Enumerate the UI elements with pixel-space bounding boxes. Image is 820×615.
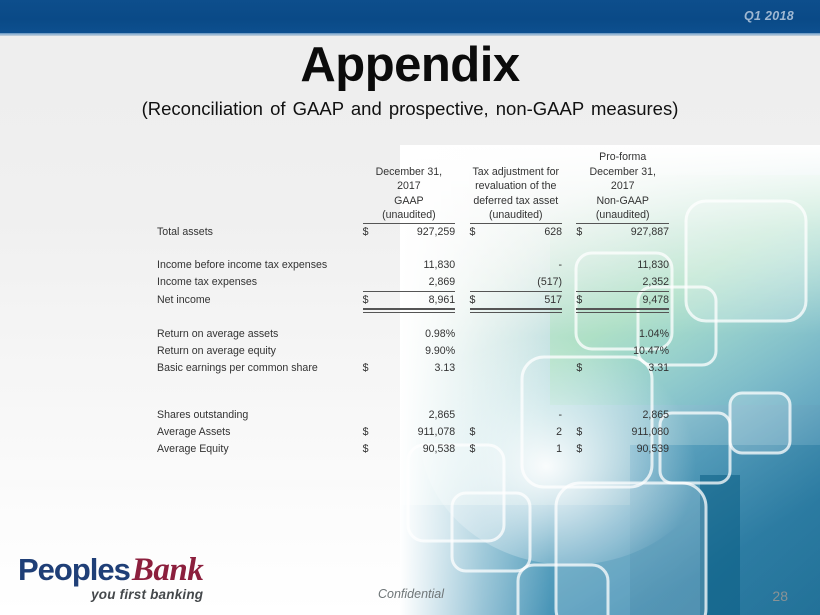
header-line: revaluation of the: [475, 180, 556, 192]
table-spacer-row: [157, 241, 669, 257]
table-body: Total assets$927,259$628$927,887Income b…: [157, 223, 669, 458]
table-row: Average Equity$90,538$1$90,539: [157, 441, 669, 458]
cell-currency-symbol: $: [576, 424, 592, 441]
cell-currency-symbol: $: [363, 291, 379, 309]
cell-value: -: [486, 407, 562, 424]
table-header-row: December 31, 2017 GAAP (unaudited) Tax a…: [157, 150, 669, 223]
cell-gap: [455, 326, 469, 343]
header-line: (unaudited): [382, 209, 436, 221]
cell-value: 9.90%: [379, 343, 455, 360]
cell-currency-symbol: [363, 407, 379, 424]
row-label: Total assets: [157, 223, 363, 241]
reconciliation-table: December 31, 2017 GAAP (unaudited) Tax a…: [157, 150, 669, 458]
cell-value: 2,865: [379, 407, 455, 424]
cell-currency-symbol: [363, 274, 379, 292]
cell-gap: [562, 343, 576, 360]
cell-currency-symbol: $: [470, 441, 486, 458]
banner-divider-rule: [0, 33, 820, 36]
header-gap-1: [455, 150, 469, 223]
header-line: Pro-forma: [599, 151, 646, 163]
table-header: December 31, 2017 GAAP (unaudited) Tax a…: [157, 150, 669, 223]
table-row: Income before income tax expenses11,830-…: [157, 257, 669, 274]
cell-value: 628: [486, 223, 562, 241]
cell-value: -: [486, 257, 562, 274]
logo-wordmark: PeoplesBank: [18, 554, 203, 587]
confidential-label: Confidential: [378, 587, 444, 601]
table-row: Average Assets$911,078$2$911,080: [157, 424, 669, 441]
table-row: Total assets$927,259$628$927,887: [157, 223, 669, 241]
cell-gap: [455, 424, 469, 441]
cell-value: 9,478: [593, 291, 669, 309]
table-row: Return on average assets0.98%1.04%: [157, 326, 669, 343]
cell-currency-symbol: $: [363, 223, 379, 241]
logo-tagline: you first banking: [18, 588, 203, 602]
cell-gap: [455, 257, 469, 274]
column-header-tax-adjustment: Tax adjustment for revaluation of the de…: [470, 150, 563, 223]
header-line: Non-GAAP: [597, 195, 649, 207]
table-row: Return on average equity9.90%10.47%: [157, 343, 669, 360]
cell-currency-symbol: $: [576, 291, 592, 309]
cell-gap: [455, 223, 469, 241]
cell-value: [486, 343, 562, 360]
cell-currency-symbol: $: [576, 223, 592, 241]
cell-value: 90,538: [379, 441, 455, 458]
cell-currency-symbol: [363, 326, 379, 343]
cell-currency-symbol: [470, 274, 486, 292]
header-line: December 31,: [589, 166, 656, 178]
banner-period-label: Q1 2018: [744, 9, 794, 23]
cell-currency-symbol: [363, 343, 379, 360]
cell-gap: [562, 424, 576, 441]
logo-secondary-text: Bank: [132, 552, 203, 588]
cell-value: 90,539: [593, 441, 669, 458]
header-line: GAAP: [394, 195, 423, 207]
cell-value: 911,078: [379, 424, 455, 441]
cell-gap: [562, 274, 576, 292]
cell-value: (517): [486, 274, 562, 292]
cell-gap: [562, 223, 576, 241]
cell-currency-symbol: [470, 257, 486, 274]
cell-currency-symbol: $: [470, 223, 486, 241]
cell-gap: [562, 441, 576, 458]
row-label: Average Equity: [157, 441, 363, 458]
page-title: Appendix: [0, 37, 820, 93]
table-row: Income tax expenses2,869(517)2,352: [157, 274, 669, 292]
cell-value: 2,352: [593, 274, 669, 292]
header-label-spacer: [157, 150, 363, 223]
cell-value: 927,887: [593, 223, 669, 241]
cell-gap: [562, 326, 576, 343]
logo-primary-text: Peoples: [18, 552, 130, 587]
cell-value: 10.47%: [593, 343, 669, 360]
cell-value: 517: [486, 291, 562, 309]
row-label: Average Assets: [157, 424, 363, 441]
cell-value: 2,865: [593, 407, 669, 424]
cell-value: 8,961: [379, 291, 455, 309]
cell-currency-symbol: [576, 257, 592, 274]
header-gap-2: [562, 150, 576, 223]
row-label: Income before income tax expenses: [157, 257, 363, 274]
cell-gap: [455, 343, 469, 360]
cell-currency-symbol: [576, 343, 592, 360]
cell-value: 11,830: [379, 257, 455, 274]
column-header-non-gaap: Pro-forma December 31, 2017 Non-GAAP (un…: [576, 150, 669, 223]
peoples-bank-logo: PeoplesBank you first banking: [18, 554, 203, 602]
cell-value: 1: [486, 441, 562, 458]
cell-gap: [562, 360, 576, 377]
header-line: deferred tax asset: [473, 195, 558, 207]
header-line: 2017: [611, 180, 635, 192]
cell-value: 911,080: [593, 424, 669, 441]
cell-value: 2,869: [379, 274, 455, 292]
cell-currency-symbol: $: [363, 424, 379, 441]
column-header-gaap: December 31, 2017 GAAP (unaudited): [363, 150, 456, 223]
cell-currency-symbol: [576, 326, 592, 343]
cell-currency-symbol: [470, 343, 486, 360]
row-label: Shares outstanding: [157, 407, 363, 424]
cell-gap: [562, 407, 576, 424]
cell-currency-symbol: $: [470, 291, 486, 309]
slide-canvas: Q1 2018 Appendix (Reconciliation of GAAP…: [0, 0, 820, 615]
cell-currency-symbol: $: [363, 441, 379, 458]
header-line: (unaudited): [489, 209, 543, 221]
cell-value: 0.98%: [379, 326, 455, 343]
cell-gap: [455, 360, 469, 377]
table-row: Net income$8,961$517$9,478: [157, 291, 669, 309]
header-line: Tax adjustment for: [472, 166, 559, 178]
cell-gap: [455, 291, 469, 309]
header-line: December 31,: [376, 166, 443, 178]
cell-value: [486, 360, 562, 377]
row-label: Income tax expenses: [157, 274, 363, 292]
cell-currency-symbol: $: [363, 360, 379, 377]
cell-gap: [455, 441, 469, 458]
cell-currency-symbol: [363, 257, 379, 274]
cell-value: 927,259: [379, 223, 455, 241]
row-label: Return on average equity: [157, 343, 363, 360]
table-row: Basic earnings per common share$3.13$3.3…: [157, 360, 669, 377]
cell-value: 1.04%: [593, 326, 669, 343]
header-line: (unaudited): [596, 209, 650, 221]
cell-value: 3.31: [593, 360, 669, 377]
header-line: 2017: [397, 180, 421, 192]
cell-currency-symbol: [470, 360, 486, 377]
cell-currency-symbol: $: [576, 441, 592, 458]
cell-currency-symbol: [470, 326, 486, 343]
cell-value: 3.13: [379, 360, 455, 377]
table-row: Shares outstanding2,865-2,865: [157, 407, 669, 424]
cell-gap: [562, 257, 576, 274]
page-subtitle: (Reconciliation of GAAP and prospective,…: [0, 98, 820, 120]
top-banner: [0, 0, 820, 33]
cell-gap: [562, 291, 576, 309]
cell-gap: [455, 407, 469, 424]
cell-currency-symbol: $: [470, 424, 486, 441]
cell-value: [486, 326, 562, 343]
cell-currency-symbol: [576, 407, 592, 424]
page-number: 28: [772, 588, 788, 604]
row-label: Net income: [157, 291, 363, 309]
cell-currency-symbol: [470, 407, 486, 424]
cell-currency-symbol: $: [576, 360, 592, 377]
cell-gap: [455, 274, 469, 292]
table-spacer-row: [157, 377, 669, 407]
cell-value: 11,830: [593, 257, 669, 274]
cell-value: 2: [486, 424, 562, 441]
row-label: Return on average assets: [157, 326, 363, 343]
cell-currency-symbol: [576, 274, 592, 292]
row-label: Basic earnings per common share: [157, 360, 363, 377]
